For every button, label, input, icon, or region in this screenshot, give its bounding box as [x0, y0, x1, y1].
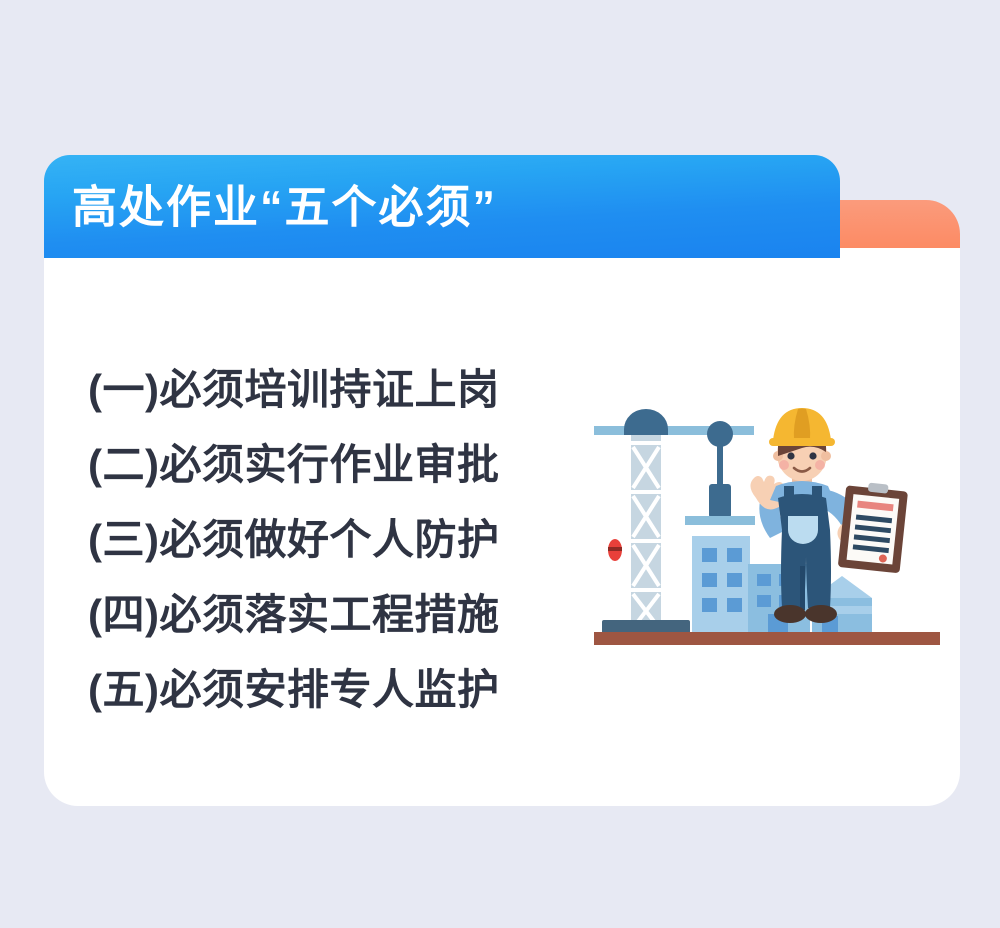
crane-cap-icon: [624, 409, 668, 435]
list-item: (三)必须做好个人防护: [88, 502, 499, 577]
worker-cheek-icon: [779, 460, 789, 470]
crane-cable-icon: [717, 444, 723, 488]
worker-strap-icon: [812, 486, 822, 504]
list-item: (二)必须实行作业审批: [88, 427, 499, 502]
worker-ear-icon: [821, 451, 831, 461]
worker-cheek-icon: [815, 460, 825, 470]
worker-eye-icon: [809, 452, 816, 459]
clipboard-icon: [838, 480, 909, 573]
worker-shoe-icon: [805, 605, 837, 623]
crane-hook-block-icon: [709, 484, 731, 518]
crane-load-beam-icon: [685, 516, 755, 525]
card-header: 高处作业“五个必须”: [44, 155, 840, 258]
worker-pocket-icon: [788, 516, 818, 544]
worker-leg-split-icon: [800, 566, 805, 610]
hard-hat-brim-icon: [769, 438, 835, 446]
construction-illustration: [580, 398, 940, 718]
poster-root: 高处作业“五个必须” (一)必须培训持证上岗 (二)必须实行作业审批 (三)必须…: [0, 0, 1000, 928]
rules-list: (一)必须培训持证上岗 (二)必须实行作业审批 (三)必须做好个人防护 (四)必…: [88, 352, 499, 727]
extinguisher-band-icon: [608, 547, 622, 551]
list-item: (五)必须安排专人监护: [88, 652, 499, 727]
worker-strap-icon: [784, 486, 794, 504]
list-item: (四)必须落实工程措施: [88, 577, 499, 652]
page-title: 高处作业“五个必须”: [72, 184, 497, 229]
worker-eye-icon: [787, 452, 794, 459]
worker-shoe-icon: [774, 605, 806, 623]
crane-pulley-icon: [707, 421, 733, 447]
list-item: (一)必须培训持证上岗: [88, 352, 499, 427]
ground-strip-icon: [594, 632, 940, 645]
